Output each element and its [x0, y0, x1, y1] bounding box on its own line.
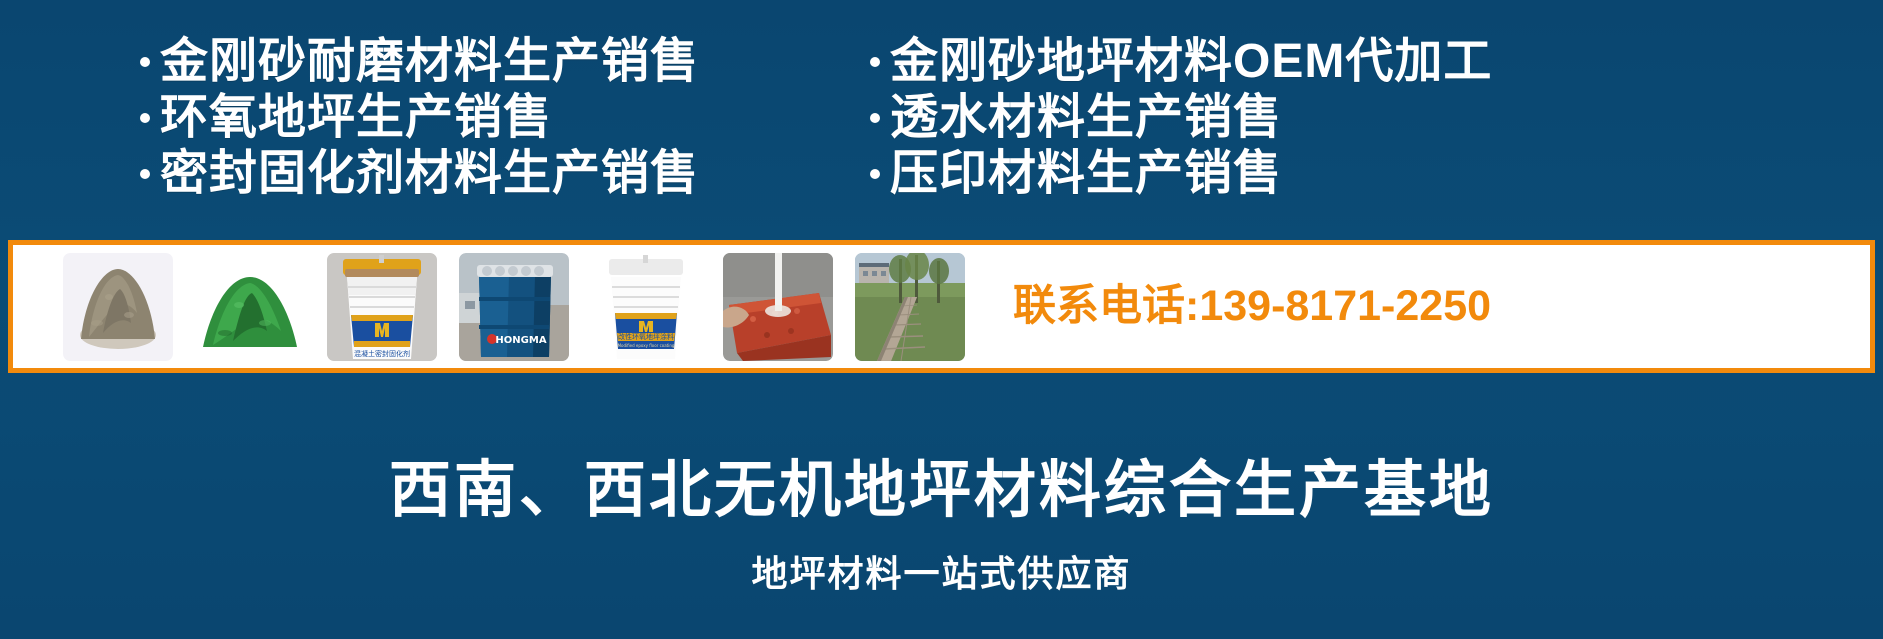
bullet-label: 压印材料生产销售: [890, 146, 1282, 202]
product-gallery: 混凝土密封固化剂: [13, 245, 965, 368]
bullet-dot-icon: [140, 169, 150, 179]
svg-text:HONGMA: HONGMA: [495, 335, 546, 346]
svg-text:改性环氧地坪涂料: 改性环氧地坪涂料: [618, 332, 674, 341]
bullet-item: 压印材料生产销售: [870, 146, 1770, 202]
bullet-label: 透水材料生产销售: [890, 90, 1282, 146]
bullet-label: 金刚砂耐磨材料生产销售: [160, 34, 699, 90]
product-image-epoxy-floor-coating-bucket: 改性环氧地坪涂料 Modified epoxy floor coating: [591, 253, 701, 361]
product-image-green-wear-resistant-powder: [195, 253, 305, 361]
product-strip: 混凝土密封固化剂: [8, 240, 1875, 373]
product-image-stamped-concrete-path: [855, 253, 965, 361]
bullet-dot-icon: [140, 57, 150, 67]
page-subtitle: 地坪材料一站式供应商: [0, 552, 1883, 596]
feature-bullets: 金刚砂耐磨材料生产销售 环氧地坪生产销售 密封固化剂材料生产销售 金刚砂地坪材料…: [0, 34, 1883, 224]
bullet-label: 环氧地坪生产销售: [160, 90, 552, 146]
product-image-concrete-sealer-bucket: 混凝土密封固化剂: [327, 253, 437, 361]
promotional-banner: 金刚砂耐磨材料生产销售 环氧地坪生产销售 密封固化剂材料生产销售 金刚砂地坪材料…: [0, 0, 1883, 639]
bullet-item: 密封固化剂材料生产销售: [140, 146, 870, 202]
bullet-item: 金刚砂耐磨材料生产销售: [140, 34, 870, 90]
bullet-dot-icon: [140, 113, 150, 123]
svg-text:Modified epoxy floor coating: Modified epoxy floor coating: [618, 343, 675, 348]
bullet-label: 密封固化剂材料生产销售: [160, 146, 699, 202]
bullet-item: 透水材料生产销售: [870, 90, 1770, 146]
bullet-dot-icon: [870, 57, 880, 67]
product-image-red-permeable-paving: [723, 253, 833, 361]
bullet-item: 环氧地坪生产销售: [140, 90, 870, 146]
bullet-dot-icon: [870, 169, 880, 179]
bullet-item: 金刚砂地坪材料OEM代加工: [870, 34, 1770, 90]
bullet-label: 金刚砂地坪材料OEM代加工: [890, 34, 1492, 90]
product-image-gray-wear-resistant-powder: [63, 253, 173, 361]
bullet-column-left: 金刚砂耐磨材料生产销售 环氧地坪生产销售 密封固化剂材料生产销售: [140, 34, 870, 224]
product-image-hongma-blue-drum: HONGMA: [459, 253, 569, 361]
svg-text:混凝土密封固化剂: 混凝土密封固化剂: [354, 349, 410, 358]
bullet-column-right: 金刚砂地坪材料OEM代加工 透水材料生产销售 压印材料生产销售: [870, 34, 1770, 224]
page-title: 西南、西北无机地坪材料综合生产基地: [0, 455, 1883, 527]
bullet-dot-icon: [870, 113, 880, 123]
contact-phone[interactable]: 联系电话:139-8171-2250: [1013, 285, 1491, 328]
